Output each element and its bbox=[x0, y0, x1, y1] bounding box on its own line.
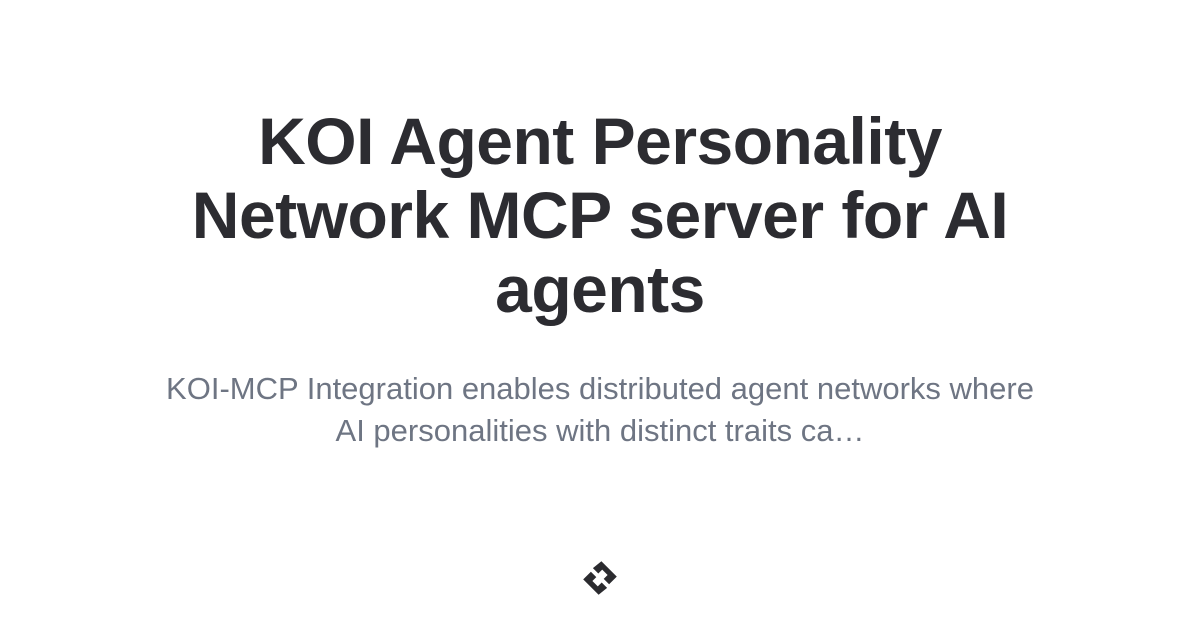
lightning-bolt-logo-icon bbox=[582, 560, 618, 596]
logo-container bbox=[0, 560, 1200, 596]
page-subtitle: KOI-MCP Integration enables distributed … bbox=[150, 368, 1050, 452]
card-content-stack: KOI Agent Personality Network MCP server… bbox=[0, 104, 1200, 452]
page-title: KOI Agent Personality Network MCP server… bbox=[185, 104, 1015, 326]
og-preview-card: KOI Agent Personality Network MCP server… bbox=[0, 0, 1200, 630]
